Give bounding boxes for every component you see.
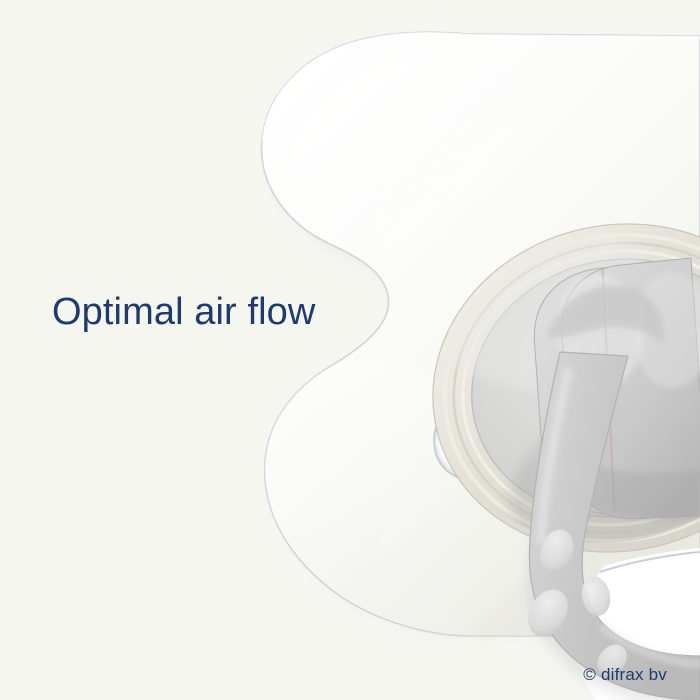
pacifier-illustration xyxy=(0,0,700,700)
caption-optimal-air-flow: Optimal air flow xyxy=(52,292,315,334)
copyright-notice: © difrax bv xyxy=(583,665,667,685)
product-image-canvas: Optimal air flow © difrax bv xyxy=(0,0,700,700)
